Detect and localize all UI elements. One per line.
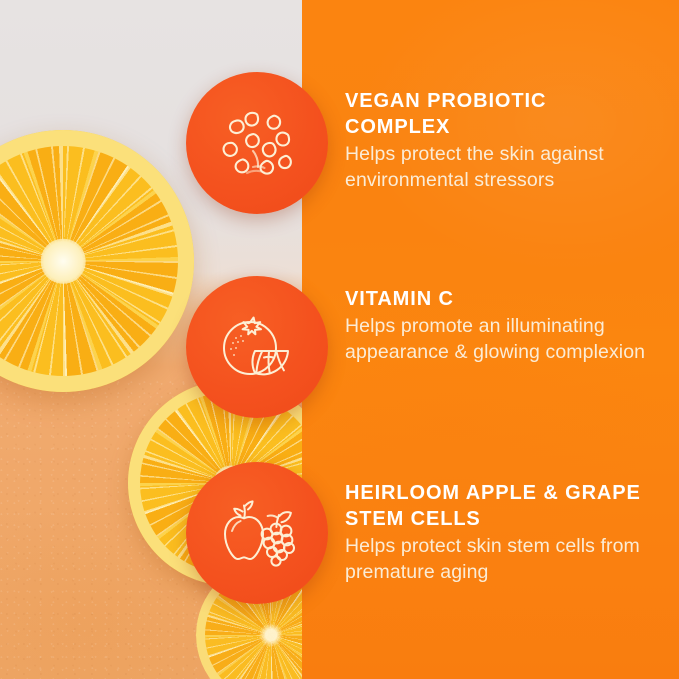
feature-row-vitaminc: VITAMIN C Helps promote an illuminating … — [0, 276, 679, 426]
feature-row-stemcells: HEIRLOOM APPLE & GRAPE STEM CELLS Helps … — [0, 462, 679, 612]
feature-badge-vitaminc — [186, 276, 328, 418]
bacteria-probiotic-icon — [209, 95, 305, 191]
feature-title: VEGAN PROBIOTIC COMPLEX — [345, 88, 657, 140]
feature-title: HEIRLOOM APPLE & GRAPE STEM CELLS — [345, 480, 657, 532]
feature-badge-probiotic — [186, 72, 328, 214]
feature-row-probiotic: VEGAN PROBIOTIC COMPLEX Helps protect th… — [0, 72, 679, 222]
feature-badge-stemcells — [186, 462, 328, 604]
feature-text-vitaminc: VITAMIN C Helps promote an illuminating … — [345, 286, 657, 365]
feature-title: VITAMIN C — [345, 286, 657, 312]
feature-description: Helps protect skin stem cells from prema… — [345, 533, 657, 585]
orange-citrus-icon — [208, 298, 306, 396]
feature-description: Helps promote an illuminating appearance… — [345, 313, 657, 365]
ingredient-benefits-infographic: VEGAN PROBIOTIC COMPLEX Helps protect th… — [0, 0, 679, 679]
feature-text-stemcells: HEIRLOOM APPLE & GRAPE STEM CELLS Helps … — [345, 480, 657, 585]
feature-text-probiotic: VEGAN PROBIOTIC COMPLEX Helps protect th… — [345, 88, 657, 193]
feature-description: Helps protect the skin against environme… — [345, 141, 657, 193]
apple-grapes-icon — [207, 483, 307, 583]
